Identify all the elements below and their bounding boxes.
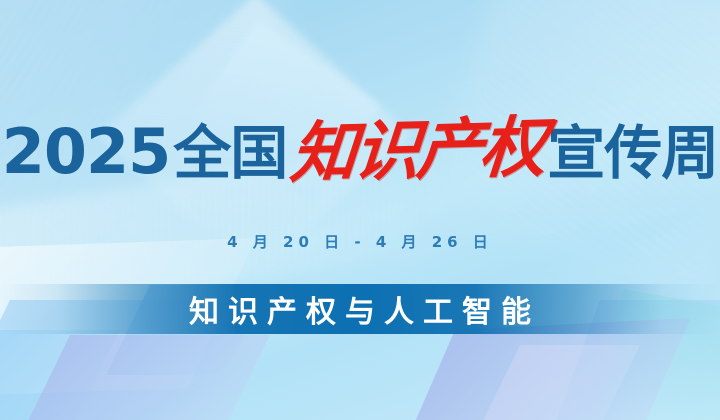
banner-content: 2025 全国 知识产权 宣传周 4 月 20 日 - 4 月 26 日 知识产… xyxy=(0,0,720,420)
headline-intellectual-property: 知识产权 xyxy=(288,114,546,187)
banner-subtitle-bar: 知识产权与人工智能 xyxy=(0,284,720,334)
banner-subtitle-text: 知识产权与人工智能 xyxy=(180,287,540,331)
banner-dateline: 4 月 20 日 - 4 月 26 日 xyxy=(0,231,720,252)
ip-week-banner: 2025 全国 知识产权 宣传周 4 月 20 日 - 4 月 26 日 知识产… xyxy=(0,0,720,420)
headline-national: 全国 xyxy=(173,124,287,182)
headline-year: 2025 xyxy=(2,121,171,183)
headline-publicity-week: 宣传周 xyxy=(547,124,718,182)
banner-headline: 2025 全国 知识产权 宣传周 xyxy=(0,117,720,183)
